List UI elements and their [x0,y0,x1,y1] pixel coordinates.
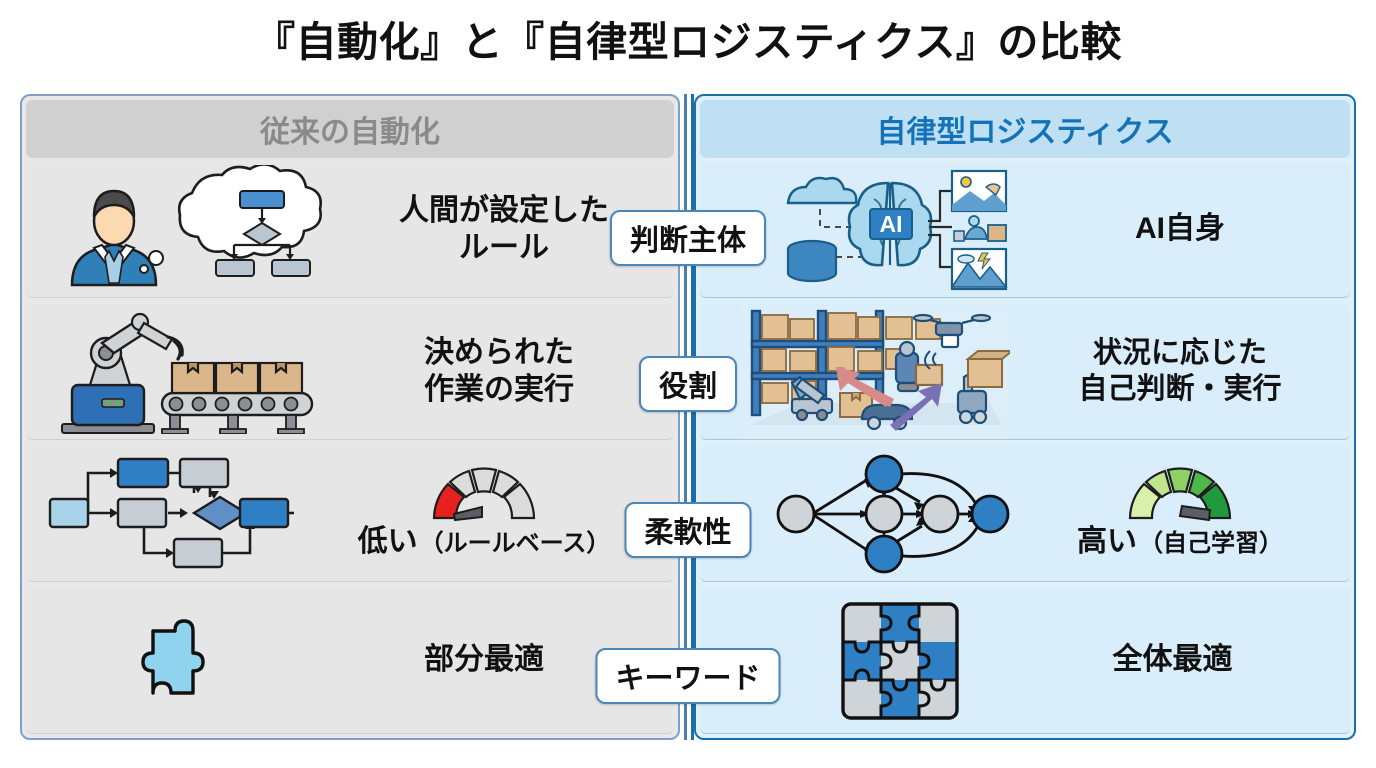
column-header-right: 自律型ロジスティクス [700,100,1350,158]
right-row-flexibility-text: 高い [1077,524,1137,561]
left-row-flexibility-text: 低い [358,524,418,561]
right-row-flexibility-block: 高い （自己学習） [1010,466,1350,561]
center-label-flexibility: 柔軟性 [624,502,751,558]
gauge-low-red-icon [424,466,544,524]
right-row-role-text: 状況に応じた 自己判断・実行 [1010,336,1350,407]
svg-text:AI: AI [880,211,903,237]
center-label-decision-maker: 判断主体 [610,210,766,266]
person-thinking-flowchart-icon [44,165,334,295]
left-row-keyword: 部分最適 [26,588,674,734]
left-row-role-text: 決められた 作業の実行 [324,335,674,408]
left-row-flexibility-block: 低い （ルールベース） [294,466,674,561]
right-row-decision-maker-text: AI自身 [1010,211,1350,248]
column-header-left: 従来の自動化 [26,100,674,158]
left-row-role: 決められた 作業の実行 [26,304,674,440]
left-row-flexibility-note: （ルールベース） [420,529,611,558]
infographic-page: 『自動化』と『自律型ロジスティクス』の比較 従来の自動化 [0,0,1376,768]
ai-brain-network-icon: AI [770,165,1010,295]
smart-warehouse-robots-drone-icon [740,307,1010,437]
page-title: 『自動化』と『自律型ロジスティクス』の比較 [0,8,1376,68]
center-label-keyword: キーワード [595,648,780,704]
center-label-role: 役割 [639,356,737,412]
single-puzzle-piece-icon [44,615,294,707]
right-row-keyword-text: 全体最適 [995,642,1350,679]
column-autonomous-logistics: 自律型ロジスティクス [694,94,1356,740]
column-conventional-automation: 従来の自動化 [20,94,680,740]
gauge-high-green-icon [1120,466,1240,524]
right-row-keyword: 全体最適 [700,588,1350,734]
robot-arm-conveyor-icon [44,309,324,434]
completed-puzzle-grid-icon [805,600,995,722]
right-row-role: 状況に応じた 自己判断・実行 [700,304,1350,440]
flexible-network-graph-icon [770,454,1010,574]
center-divider [684,94,694,740]
right-row-flexibility-note: （自己学習） [1139,529,1283,558]
right-row-decision-maker: AI [700,162,1350,298]
rigid-flowchart-icon [44,455,294,573]
left-row-decision-maker: 人間が設定した ルール [26,162,674,298]
right-row-flexibility: 高い （自己学習） [700,446,1350,582]
left-row-flexibility: 低い （ルールベース） [26,446,674,582]
